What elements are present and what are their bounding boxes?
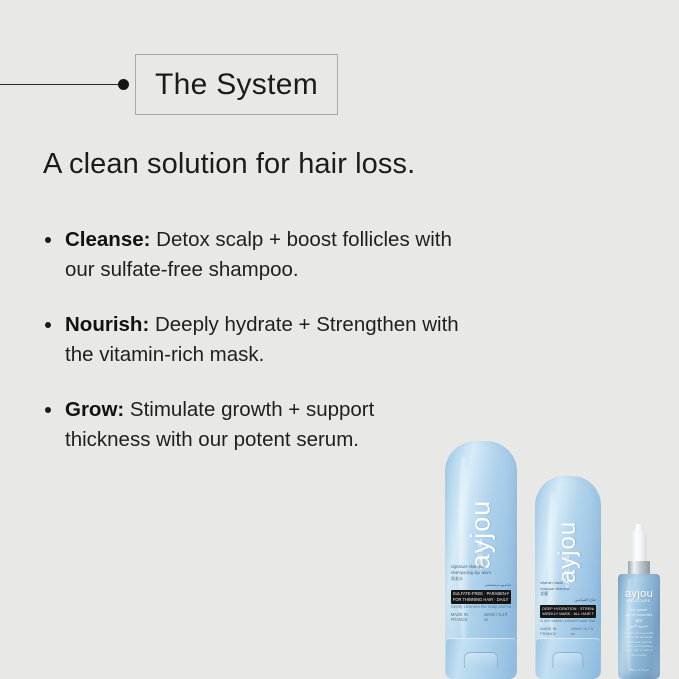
mask-label-footer: MADE IN FRANCE 200ml / 6.7 fl oz bbox=[540, 626, 595, 636]
section-header: The System bbox=[0, 54, 679, 116]
product-lineup: ayjou HAIRCARE signature shampoo shampoo… bbox=[440, 440, 679, 679]
benefits-list: Cleanse: Detox scalp + boost follicles w… bbox=[40, 225, 460, 455]
list-item: Cleanse: Detox scalp + boost follicles w… bbox=[40, 225, 460, 285]
shampoo-claim-2: FOR THINNING HAIR · DAILY USE bbox=[453, 597, 510, 603]
mask-tube-cap bbox=[536, 638, 599, 679]
shampoo-label-footer: MADE IN FRANCE 250ml / 8.4 fl oz bbox=[451, 612, 512, 622]
shampoo-fine-print: Gently cleanses the scalp and hair, remo… bbox=[451, 604, 512, 610]
bullet-dot-icon bbox=[45, 322, 51, 328]
mask-claim-2: WEEKLY MASK · ALL HAIR TYPES bbox=[542, 611, 593, 616]
mask-fine-print: A rich vitamin-infused mask that deeply … bbox=[540, 618, 595, 624]
bullet-dot-icon bbox=[45, 407, 51, 413]
shampoo-claim-1: SULFATE-FREE · PARABEN-FREE · SILICONE-F… bbox=[453, 591, 510, 597]
shampoo-volume: 250ml / 8.4 fl oz bbox=[484, 612, 511, 622]
mask-cap-notch bbox=[552, 652, 583, 668]
shampoo-made-in: MADE IN FRANCE bbox=[451, 612, 484, 622]
serum-brand-sub: HAIRCARE bbox=[618, 599, 660, 603]
mask-claims-band: DEEP HYDRATION · STRENGTHENING TREATMENT… bbox=[540, 605, 595, 619]
benefit-label: Cleanse: bbox=[65, 228, 150, 251]
serum-fine-print: A potent leave-in scalp serum that stimu… bbox=[624, 631, 654, 657]
section-title: The System bbox=[155, 70, 318, 100]
benefit-label: Nourish: bbox=[65, 313, 149, 336]
shampoo-tube-cap bbox=[446, 638, 515, 679]
section-title-box: The System bbox=[135, 54, 338, 115]
header-connector-line bbox=[0, 84, 122, 85]
serum-dropper-bulb bbox=[631, 530, 648, 564]
shampoo-label-block: signature shampoo shampooing signature 洗… bbox=[451, 564, 512, 622]
shampoo-claims-band: SULFATE-FREE · PARABEN-FREE · SILICONE-F… bbox=[451, 590, 512, 604]
list-item: Nourish: Deeply hydrate + Strengthen wit… bbox=[40, 310, 460, 370]
mask-made-in: MADE IN FRANCE bbox=[540, 626, 570, 636]
product-mask-tube: ayjou HAIRCARE vitamin mask masque vitam… bbox=[535, 476, 601, 679]
serum-volume: 50ml / 1.7 fl oz bbox=[618, 668, 660, 672]
list-item: Grow: Stimulate growth + support thickne… bbox=[40, 395, 460, 455]
bullet-dot-icon bbox=[45, 237, 51, 243]
mask-volume: 200ml / 6.7 fl oz bbox=[571, 626, 596, 636]
mask-label-block: vitamin mask masque vitamine 发膜 قناع الف… bbox=[540, 580, 595, 636]
mask-name-ar: قناع الفيتامين bbox=[540, 597, 595, 603]
serum-label-block: the growth serum concentre 精华 سيروم النم… bbox=[623, 608, 655, 630]
product-shampoo-tube: ayjou HAIRCARE signature shampoo shampoo… bbox=[445, 441, 517, 679]
product-serum-bottle: ayjou HAIRCARE the growth serum concentr… bbox=[618, 524, 660, 679]
header-connector-dot-icon bbox=[118, 79, 129, 90]
serum-name-fr: serum concentre bbox=[623, 613, 655, 618]
shampoo-name-ar: شامبو سيغنتشر bbox=[451, 582, 512, 588]
benefit-label: Grow: bbox=[65, 398, 124, 421]
page-headline: A clean solution for hair loss. bbox=[43, 148, 415, 181]
serum-name-ar: سيروم النمو bbox=[623, 624, 655, 629]
shampoo-cap-notch bbox=[464, 652, 498, 668]
